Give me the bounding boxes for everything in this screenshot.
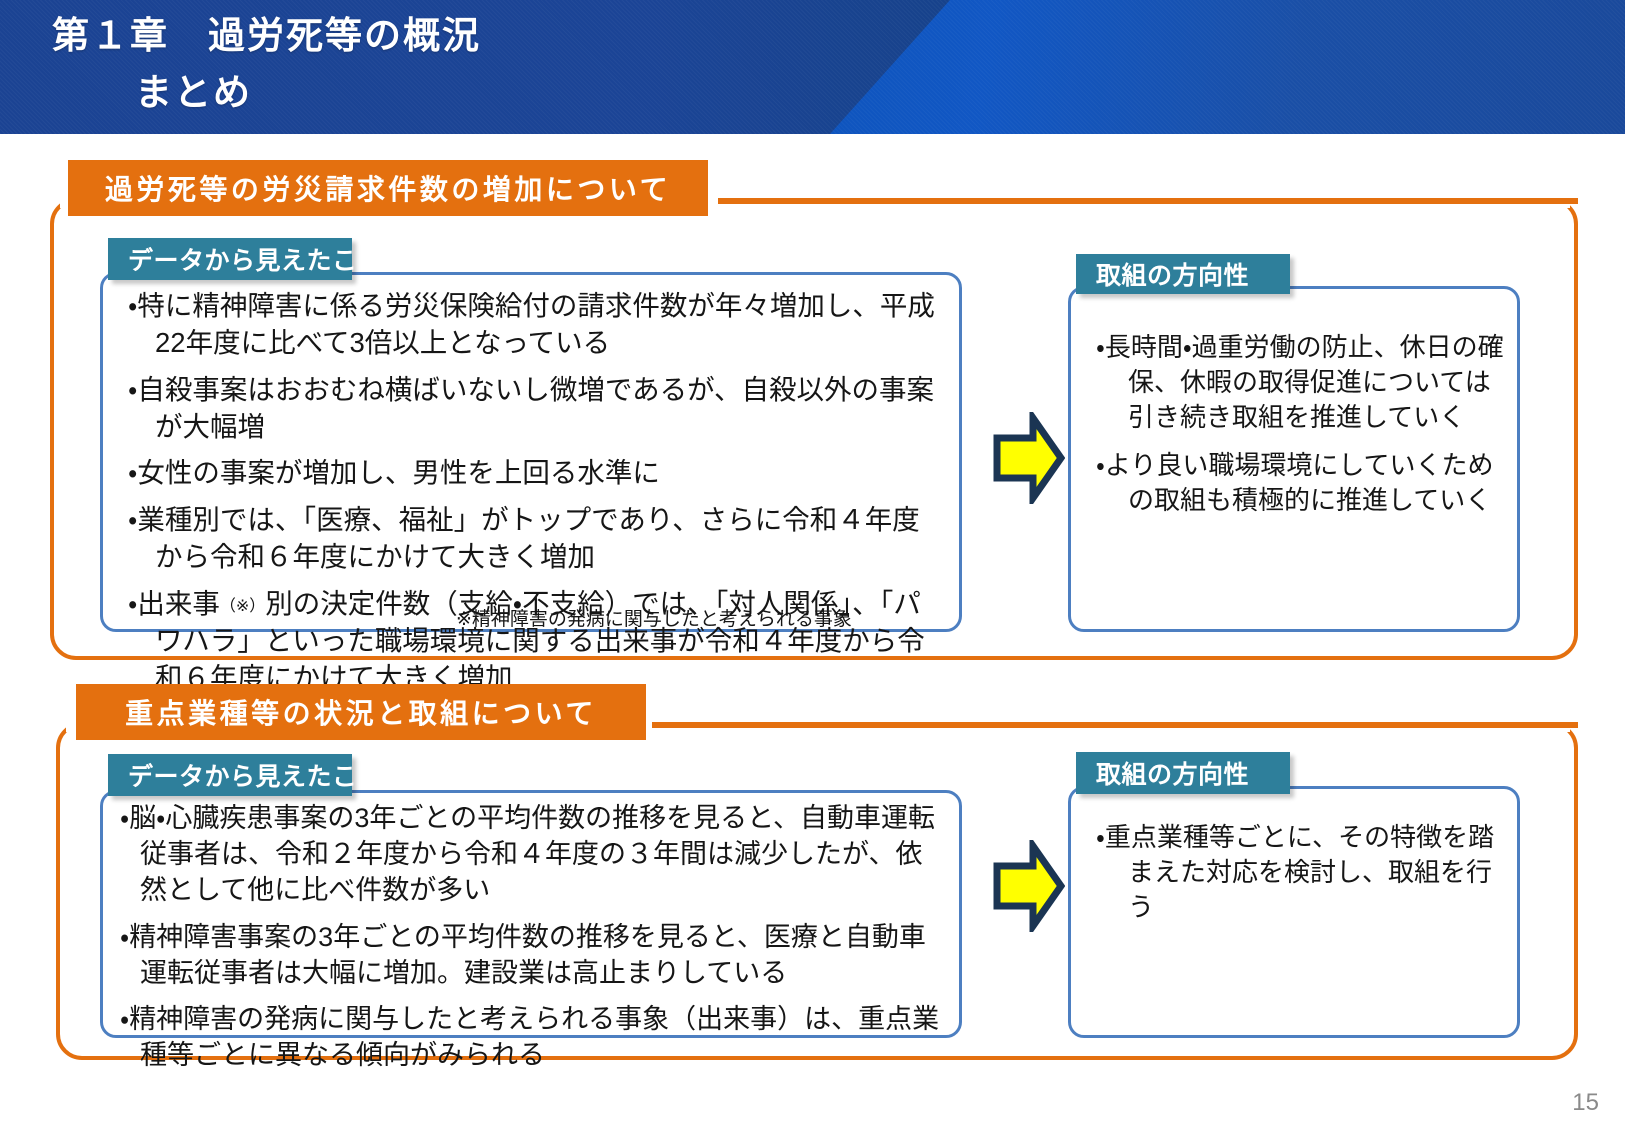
right-arrow-icon: [993, 412, 1065, 504]
section-2-direction-bullets: ・重点業種等ごとに、その特徴を踏まえた対応を検討し、取組を行う: [1096, 820, 1504, 924]
bullet-text: 自殺事案はおおむね横ばいないし微増であるが、自殺以外の事案が大幅増: [137, 374, 934, 442]
header-diagonal-accent: [830, 0, 1625, 134]
list-item: ・長時間・過重労働の防止、休日の確保、休暇の取得促進については引き続き取組を推進…: [1096, 330, 1504, 434]
bullet-text-lead: 出来事: [137, 588, 220, 619]
section-1-data-bullets: ・特に精神障害に係る労災保険給付の請求件数が年々増加し、平成22年度に比べて3倍…: [128, 288, 946, 696]
bullet-text: 女性の事案が増加し、男性を上回る水準に: [137, 457, 660, 488]
bullet-text: 業種別では、「医療、福祉」がトップであり、さらに令和４年度から令和６年度にかけて…: [137, 504, 919, 572]
list-item: ・業種別では、「医療、福祉」がトップであり、さらに令和４年度から令和６年度にかけ…: [128, 502, 946, 576]
bullet-marker: ・: [128, 374, 137, 405]
section-2-data-card-tab: データから見えたこと: [108, 754, 352, 796]
bullet-marker: ・: [120, 922, 129, 952]
list-item: ・脳・心臓疾患事案の3年ごとの平均件数の推移を見ると、自動車運転従事者は、令和２…: [120, 800, 948, 909]
section-2-direction-card-tab: 取組の方向性: [1076, 752, 1290, 794]
slide-header: 第１章 過労死等の概況 まとめ: [0, 0, 1625, 134]
list-item: ・精神障害事案の3年ごとの平均件数の推移を見ると、医療と自動車運転従事者は大幅に…: [120, 919, 948, 991]
bullet-text: 特に精神障害に係る労災保険給付の請求件数が年々増加し、平成22年度に比べて3倍以…: [137, 290, 935, 358]
list-item: ・より良い職場環境にしていくための取組も積極的に推進していく: [1096, 448, 1504, 518]
section-2-data-bullets: ・脳・心臓疾患事案の3年ごとの平均件数の推移を見ると、自動車運転従事者は、令和２…: [120, 800, 948, 1073]
section-2-tab: 重点業種等の状況と取組について: [76, 684, 646, 740]
bullet-marker: ・: [1096, 332, 1105, 362]
page-title: 第１章 過労死等の概況: [52, 12, 481, 61]
page-number: 15: [1572, 1089, 1599, 1117]
bullet-marker: ・: [128, 504, 137, 535]
section-1-footnote: ※精神障害の発病に関与したと考えられる事象: [456, 604, 852, 631]
bullet-text: 重点業種等ごとに、その特徴を踏まえた対応を検討し、取組を行う: [1105, 822, 1494, 922]
bullet-marker: ・: [120, 1004, 129, 1034]
section-2-rule: [652, 722, 1578, 728]
bullet-text: より良い職場環境にしていくための取組も積極的に推進していく: [1105, 450, 1494, 515]
section-1-direction-card-tab: 取組の方向性: [1076, 254, 1290, 294]
list-item: ・特に精神障害に係る労災保険給付の請求件数が年々増加し、平成22年度に比べて3倍…: [128, 288, 946, 362]
list-item: ・女性の事案が増加し、男性を上回る水準に: [128, 455, 946, 492]
right-arrow-icon: [993, 840, 1065, 932]
section-1-rule: [718, 198, 1578, 204]
bullet-marker: ・: [1096, 450, 1105, 480]
list-item: ・出来事（※）別の決定件数（支給・不支給）では、「対人関係」、「パワハラ」といっ…: [128, 586, 946, 697]
list-item: ・精神障害の発病に関与したと考えられる事象（出来事）は、重点業種等ごとに異なる傾…: [120, 1001, 948, 1073]
bullet-marker: ・: [120, 803, 129, 833]
section-1-tab: 過労死等の労災請求件数の増加について: [68, 160, 708, 216]
bullet-marker: ・: [128, 588, 137, 619]
bullet-marker: ・: [1096, 822, 1105, 852]
page-subtitle: まとめ: [135, 62, 252, 116]
bullet-text: 脳・心臓疾患事案の3年ごとの平均件数の推移を見ると、自動車運転従事者は、令和２年…: [129, 803, 935, 905]
bullet-marker: ・: [128, 290, 137, 321]
bullet-superscript: （※）: [220, 598, 265, 615]
bullet-text: 精神障害の発病に関与したと考えられる事象（出来事）は、重点業種等ごとに異なる傾向…: [129, 1004, 939, 1070]
list-item: ・重点業種等ごとに、その特徴を踏まえた対応を検討し、取組を行う: [1096, 820, 1504, 924]
list-item: ・自殺事案はおおむね横ばいないし微増であるが、自殺以外の事案が大幅増: [128, 372, 946, 446]
bullet-text: 長時間・過重労働の防止、休日の確保、休暇の取得促進については引き続き取組を推進し…: [1105, 332, 1504, 432]
bullet-text: 精神障害事案の3年ごとの平均件数の推移を見ると、医療と自動車運転従事者は大幅に増…: [129, 922, 926, 988]
section-1-direction-bullets: ・長時間・過重労働の防止、休日の確保、休暇の取得促進については引き続き取組を推進…: [1096, 330, 1504, 518]
slide-root: 第１章 過労死等の概況 まとめ 過労死等の労災請求件数の増加について データから…: [0, 0, 1625, 1125]
bullet-marker: ・: [128, 457, 137, 488]
section-1-data-card-tab: データから見えたこと: [108, 238, 352, 280]
